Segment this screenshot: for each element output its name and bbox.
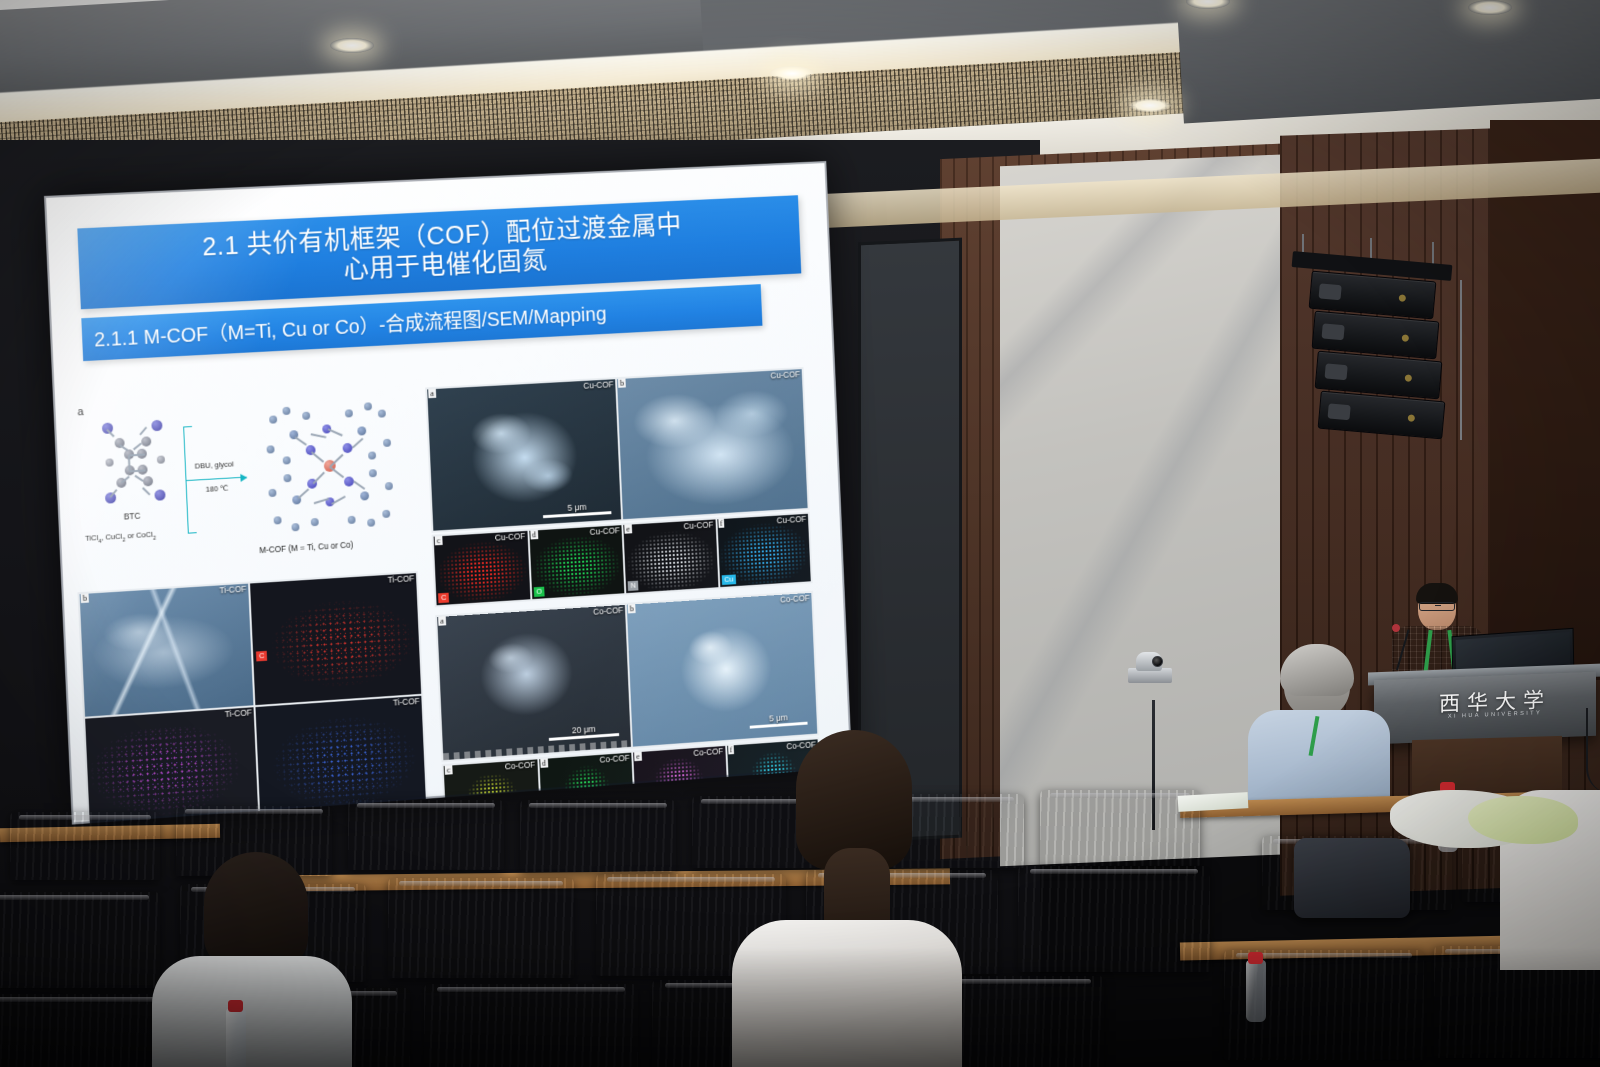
wall-wood-far-right bbox=[1490, 120, 1600, 680]
camera-lens-icon bbox=[1152, 656, 1163, 667]
attendee-hair bbox=[1280, 644, 1354, 696]
attendee-torso bbox=[1248, 710, 1390, 810]
auditorium-seat bbox=[1040, 790, 1200, 866]
auditorium-seat bbox=[520, 800, 676, 872]
microphone-icon bbox=[1392, 624, 1400, 632]
glasses-bridge bbox=[1435, 605, 1441, 606]
downlight-icon bbox=[770, 66, 814, 81]
projection-screen[interactable]: 2.1 共价有机框架（COF）配位过渡金属中 心用于电催化固氮 2.1.1 M-… bbox=[44, 161, 852, 825]
backpack bbox=[1294, 838, 1410, 918]
floor-shadow bbox=[0, 947, 1600, 1067]
screen-frame bbox=[44, 161, 852, 825]
auditorium-seat bbox=[10, 812, 160, 880]
attendee-front-right bbox=[1248, 648, 1390, 808]
glasses-icon bbox=[1419, 602, 1455, 611]
line-array-speaker bbox=[1282, 250, 1472, 440]
downlight-icon bbox=[1128, 98, 1172, 113]
presenter-hair bbox=[1416, 583, 1458, 604]
auditorium-seat bbox=[348, 800, 504, 870]
lecture-hall-photo: 2.1 共价有机框架（COF）配位过渡金属中 心用于电催化固氮 2.1.1 M-… bbox=[0, 0, 1600, 1067]
downlight-icon bbox=[330, 38, 374, 53]
downlight-icon bbox=[1468, 0, 1512, 15]
